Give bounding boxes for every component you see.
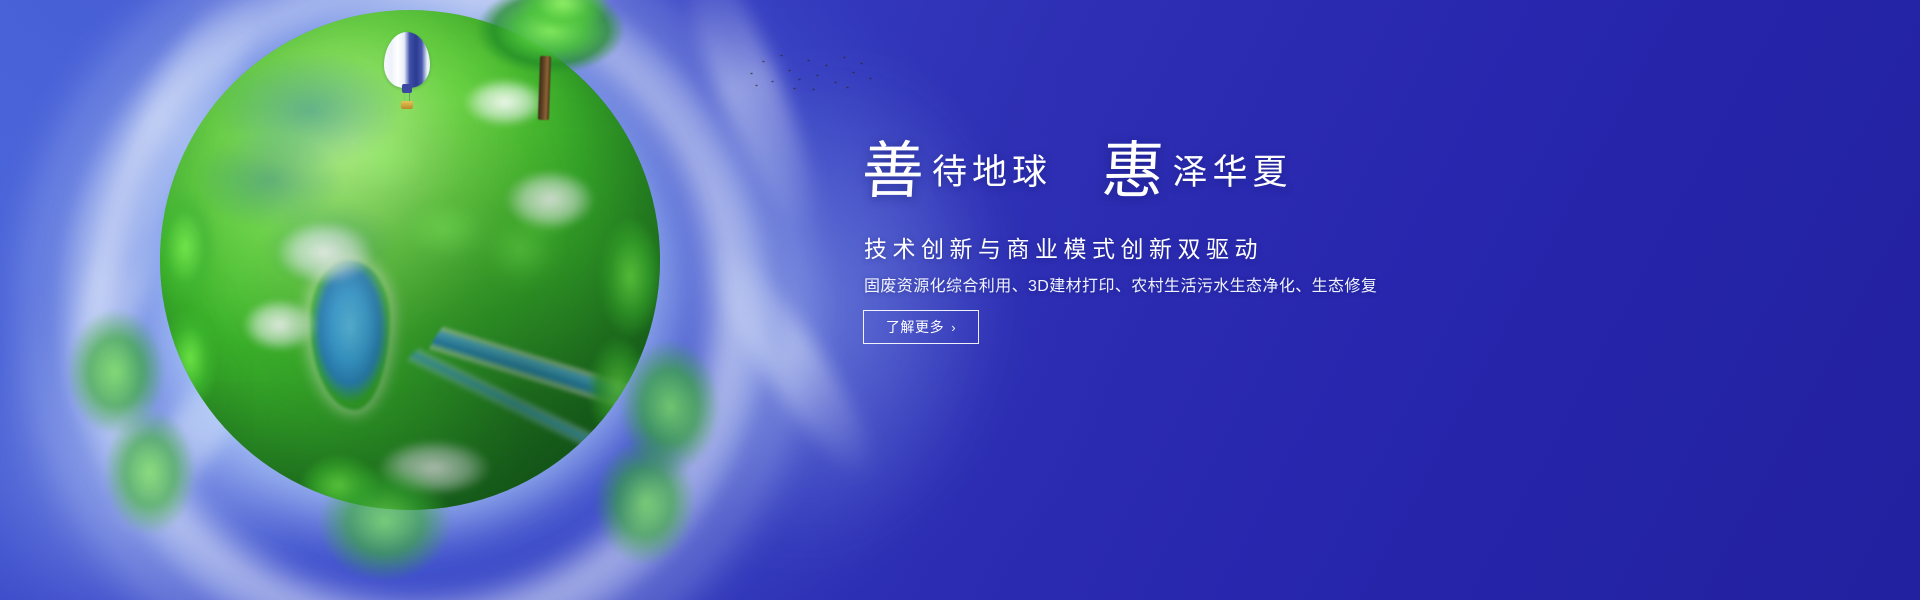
learn-more-button[interactable]: 了解更多 › — [863, 310, 979, 344]
horizon-tree-left-lower — [95, 400, 205, 550]
bird-icon — [770, 80, 775, 83]
learn-more-label: 了解更多 — [886, 317, 944, 337]
bird-icon — [792, 87, 797, 90]
bird-icon — [761, 60, 766, 63]
bird-icon — [815, 74, 820, 77]
headline: 善待地球 惠泽华夏 — [862, 140, 1562, 218]
description: 固废资源化综合利用、3D建材打印、农村生活污水生态净化、生态修复 — [864, 272, 1377, 296]
bird-icon — [851, 71, 856, 74]
bird-icon — [824, 64, 829, 67]
tree-trunk — [538, 56, 551, 120]
headline-rest-1: 待地球 — [932, 156, 1052, 191]
bird-icon — [806, 59, 811, 62]
chevron-right-icon: › — [951, 321, 956, 334]
headline-phrase-1: 善待地球 — [862, 140, 1052, 202]
bird-icon — [787, 69, 792, 72]
balloon-envelope — [384, 32, 430, 88]
hot-air-balloon — [384, 32, 430, 112]
bird-icon — [754, 84, 759, 87]
hero-banner: 善待地球 惠泽华夏 技术创新与商业模式创新双驱动 固废资源化综合利用、3D建材打… — [0, 0, 1920, 600]
headline-lead-char-2: 惠 — [1101, 140, 1166, 202]
bird-icon — [845, 86, 850, 89]
bird-flock — [745, 50, 880, 95]
horizon-tree-bottom — [305, 455, 465, 595]
horizon-tree-right-lower — [585, 430, 705, 580]
bird-icon — [833, 81, 838, 84]
bird-icon — [811, 88, 816, 91]
headline-rest-2: 泽华夏 — [1173, 156, 1293, 191]
headline-phrase-2: 惠泽华夏 — [1102, 140, 1292, 202]
hero-content: 善待地球 惠泽华夏 技术创新与商业模式创新双驱动 固废资源化综合利用、3D建材打… — [862, 0, 1762, 600]
balloon-basket — [401, 101, 413, 109]
planet-illustration — [155, 0, 675, 600]
bird-icon — [779, 54, 784, 57]
headline-lead-char-1: 善 — [860, 140, 925, 202]
bird-icon — [797, 78, 802, 81]
bird-icon — [749, 72, 754, 75]
bird-icon — [842, 56, 847, 59]
subtitle: 技术创新与商业模式创新双驱动 — [864, 230, 1263, 264]
large-tree — [455, 0, 645, 121]
